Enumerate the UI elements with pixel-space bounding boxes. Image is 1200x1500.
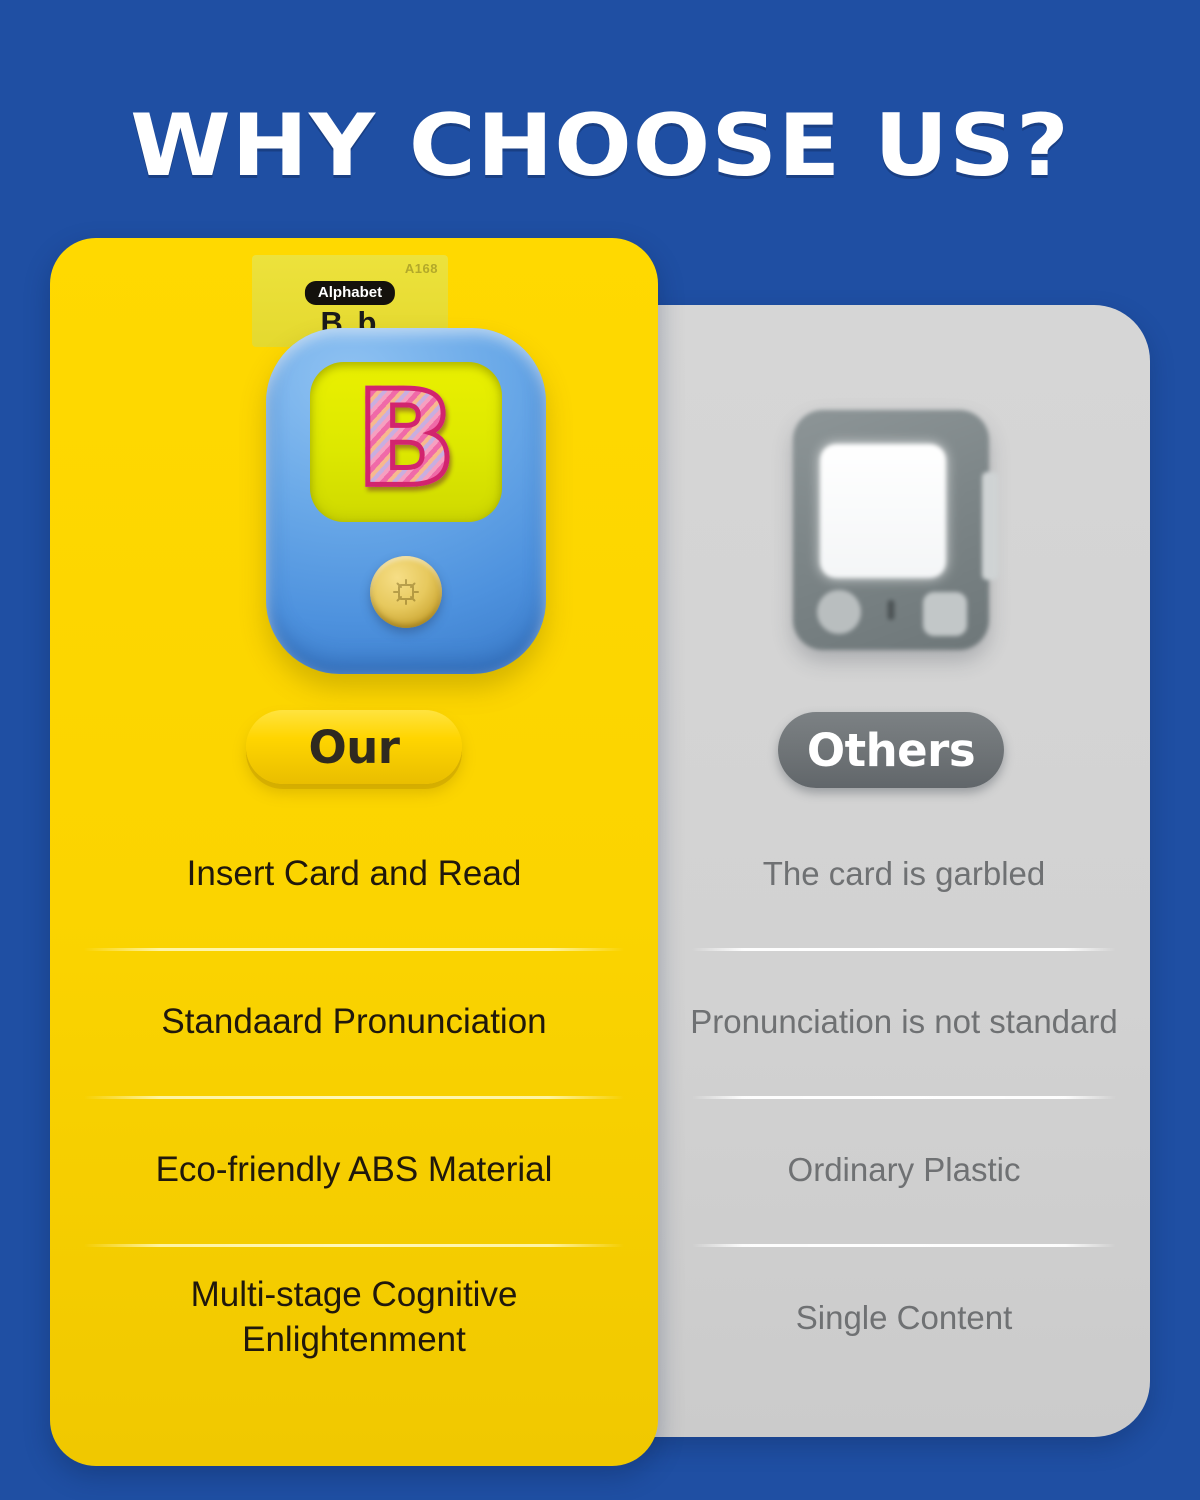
screen-letter: B <box>356 373 457 505</box>
ours-label-text: Our <box>309 721 400 774</box>
generic-device <box>793 410 989 650</box>
others-label-badge: Others <box>778 712 1004 788</box>
device-screen: B <box>310 362 502 522</box>
generic-device-round-button <box>817 590 861 634</box>
generic-device-screen <box>820 444 946 578</box>
list-item: Multi-stage Cognitive Enlightenment <box>50 1244 658 1392</box>
generic-device-square-button <box>923 592 967 636</box>
others-feature-list: The card is garbled Pronunciation is not… <box>658 800 1150 1392</box>
list-item: Eco-friendly ABS Material <box>50 1096 658 1244</box>
list-item: Single Content <box>658 1244 1150 1392</box>
card-category-badge: Alphabet <box>305 281 395 305</box>
ours-product-image: A168 Alphabet B b B <box>50 238 658 708</box>
comparison-panels: A168 Alphabet B b B Our <box>0 0 1200 1500</box>
card-code-label: A168 <box>405 261 438 276</box>
others-product-image <box>632 305 1150 705</box>
speaker-icon <box>370 556 442 628</box>
list-item: Standaard Pronunciation <box>50 948 658 1096</box>
list-item: Pronunciation is not standard <box>658 948 1150 1096</box>
others-label-text: Others <box>807 724 975 777</box>
reader-device: B <box>266 328 546 674</box>
list-item: Insert Card and Read <box>50 800 658 948</box>
list-item: The card is garbled <box>658 800 1150 948</box>
device-side-button <box>982 472 998 580</box>
ours-feature-list: Insert Card and Read Standaard Pronuncia… <box>50 800 658 1392</box>
generic-device-slot <box>888 600 895 620</box>
list-item: Ordinary Plastic <box>658 1096 1150 1244</box>
ours-label-badge: Our <box>246 710 462 784</box>
